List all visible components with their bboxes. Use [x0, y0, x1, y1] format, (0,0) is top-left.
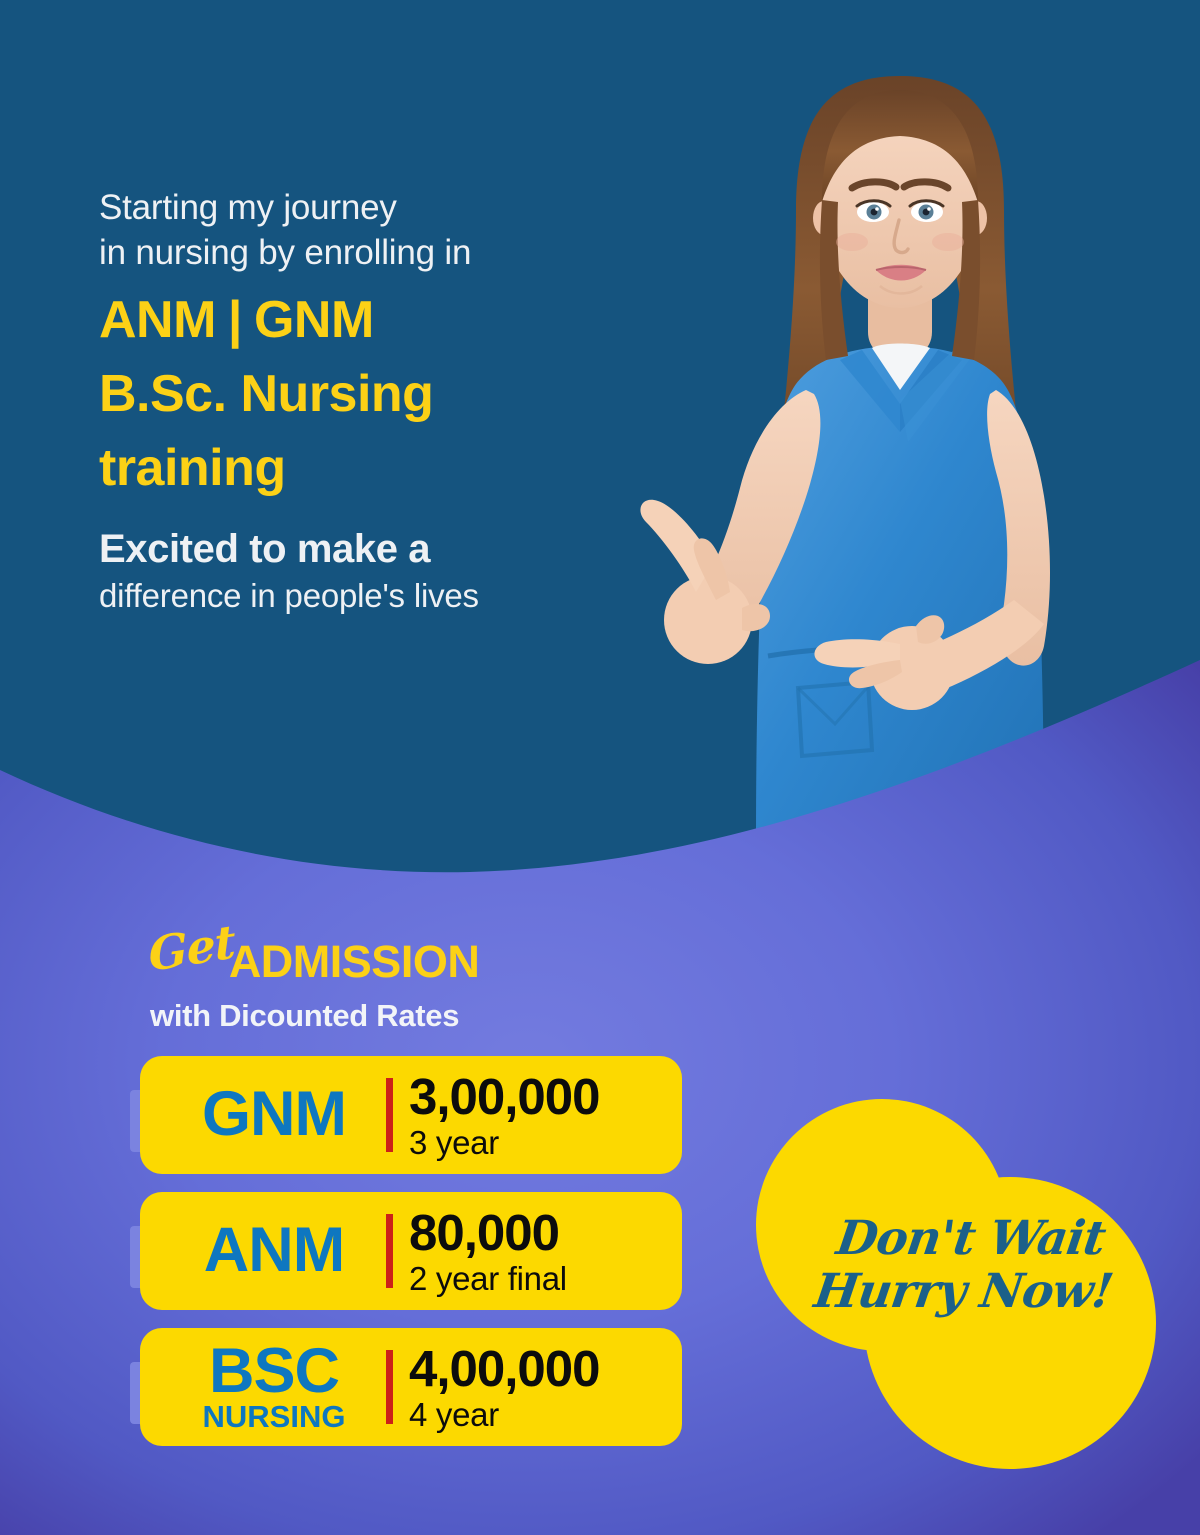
course-gnm: GNM	[254, 291, 374, 349]
card-price-block: 3,00,000 3 year	[409, 1071, 600, 1159]
admission-script-word: Get	[148, 918, 236, 978]
card-divider	[386, 1350, 393, 1424]
course-title-row-3: training	[99, 438, 619, 498]
badge-line-2: Hurry Now!	[795, 1266, 1132, 1319]
card-price-block: 4,00,000 4 year	[409, 1343, 600, 1431]
tagline-light: difference in people's lives	[99, 575, 619, 616]
card-divider	[386, 1214, 393, 1288]
headline-line-2: in nursing by enrolling in	[99, 231, 619, 276]
pricing-card-shell: GNM 3,00,000 3 year	[130, 1056, 690, 1174]
pricing-card-shell: BSC NURSING 4,00,000 4 year	[130, 1328, 690, 1446]
card-course-name-main: GNM	[166, 1086, 382, 1144]
card-course-name-main: ANM	[166, 1222, 382, 1280]
card-course-name: GNM	[166, 1086, 382, 1144]
course-title-row-1: ANM|GNM	[99, 290, 619, 350]
card-price: 4,00,000	[409, 1343, 600, 1394]
pricing-card-list: GNM 3,00,000 3 year ANM 80,000 2 year fi…	[130, 1056, 690, 1464]
poster-canvas: Starting my journey in nursing by enroll…	[0, 0, 1200, 1535]
card-price-block: 80,000 2 year final	[409, 1207, 567, 1295]
headline-line-1: Starting my journey	[99, 186, 619, 231]
badge-text-block: Don't Wait Hurry Now!	[795, 1213, 1140, 1318]
admission-subheading: with Dicounted Rates	[150, 998, 479, 1034]
course-anm: ANM	[99, 291, 216, 349]
card-course-name-sub: NURSING	[166, 1403, 382, 1432]
card-duration: 2 year final	[409, 1262, 567, 1295]
admission-headline: ADMISSION	[229, 939, 480, 984]
card-course-name: BSC NURSING	[166, 1343, 382, 1431]
admission-heading-block: Get ADMISSION with Dicounted Rates	[150, 932, 479, 1034]
card-course-name: ANM	[166, 1222, 382, 1280]
hurry-now-badge[interactable]: Don't Wait Hurry Now!	[756, 1085, 1156, 1475]
pricing-card-anm[interactable]: ANM 80,000 2 year final	[140, 1192, 682, 1310]
card-duration: 3 year	[409, 1126, 600, 1159]
course-separator: |	[228, 290, 242, 350]
pricing-card-gnm[interactable]: GNM 3,00,000 3 year	[140, 1056, 682, 1174]
card-duration: 4 year	[409, 1398, 600, 1431]
card-divider	[386, 1078, 393, 1152]
nurse-hero-image	[600, 60, 1200, 840]
admission-heading-row: Get ADMISSION	[150, 932, 479, 984]
headline-block: Starting my journey in nursing by enroll…	[99, 186, 619, 616]
card-price: 80,000	[409, 1207, 567, 1258]
card-course-name-main: BSC	[166, 1343, 382, 1401]
card-price: 3,00,000	[409, 1071, 600, 1122]
pricing-card-bsc-nursing[interactable]: BSC NURSING 4,00,000 4 year	[140, 1328, 682, 1446]
course-title-row-2: B.Sc. Nursing	[99, 364, 619, 424]
tagline-bold: Excited to make a	[99, 525, 619, 573]
badge-line-1: Don't Wait	[802, 1213, 1139, 1266]
pricing-card-shell: ANM 80,000 2 year final	[130, 1192, 690, 1310]
